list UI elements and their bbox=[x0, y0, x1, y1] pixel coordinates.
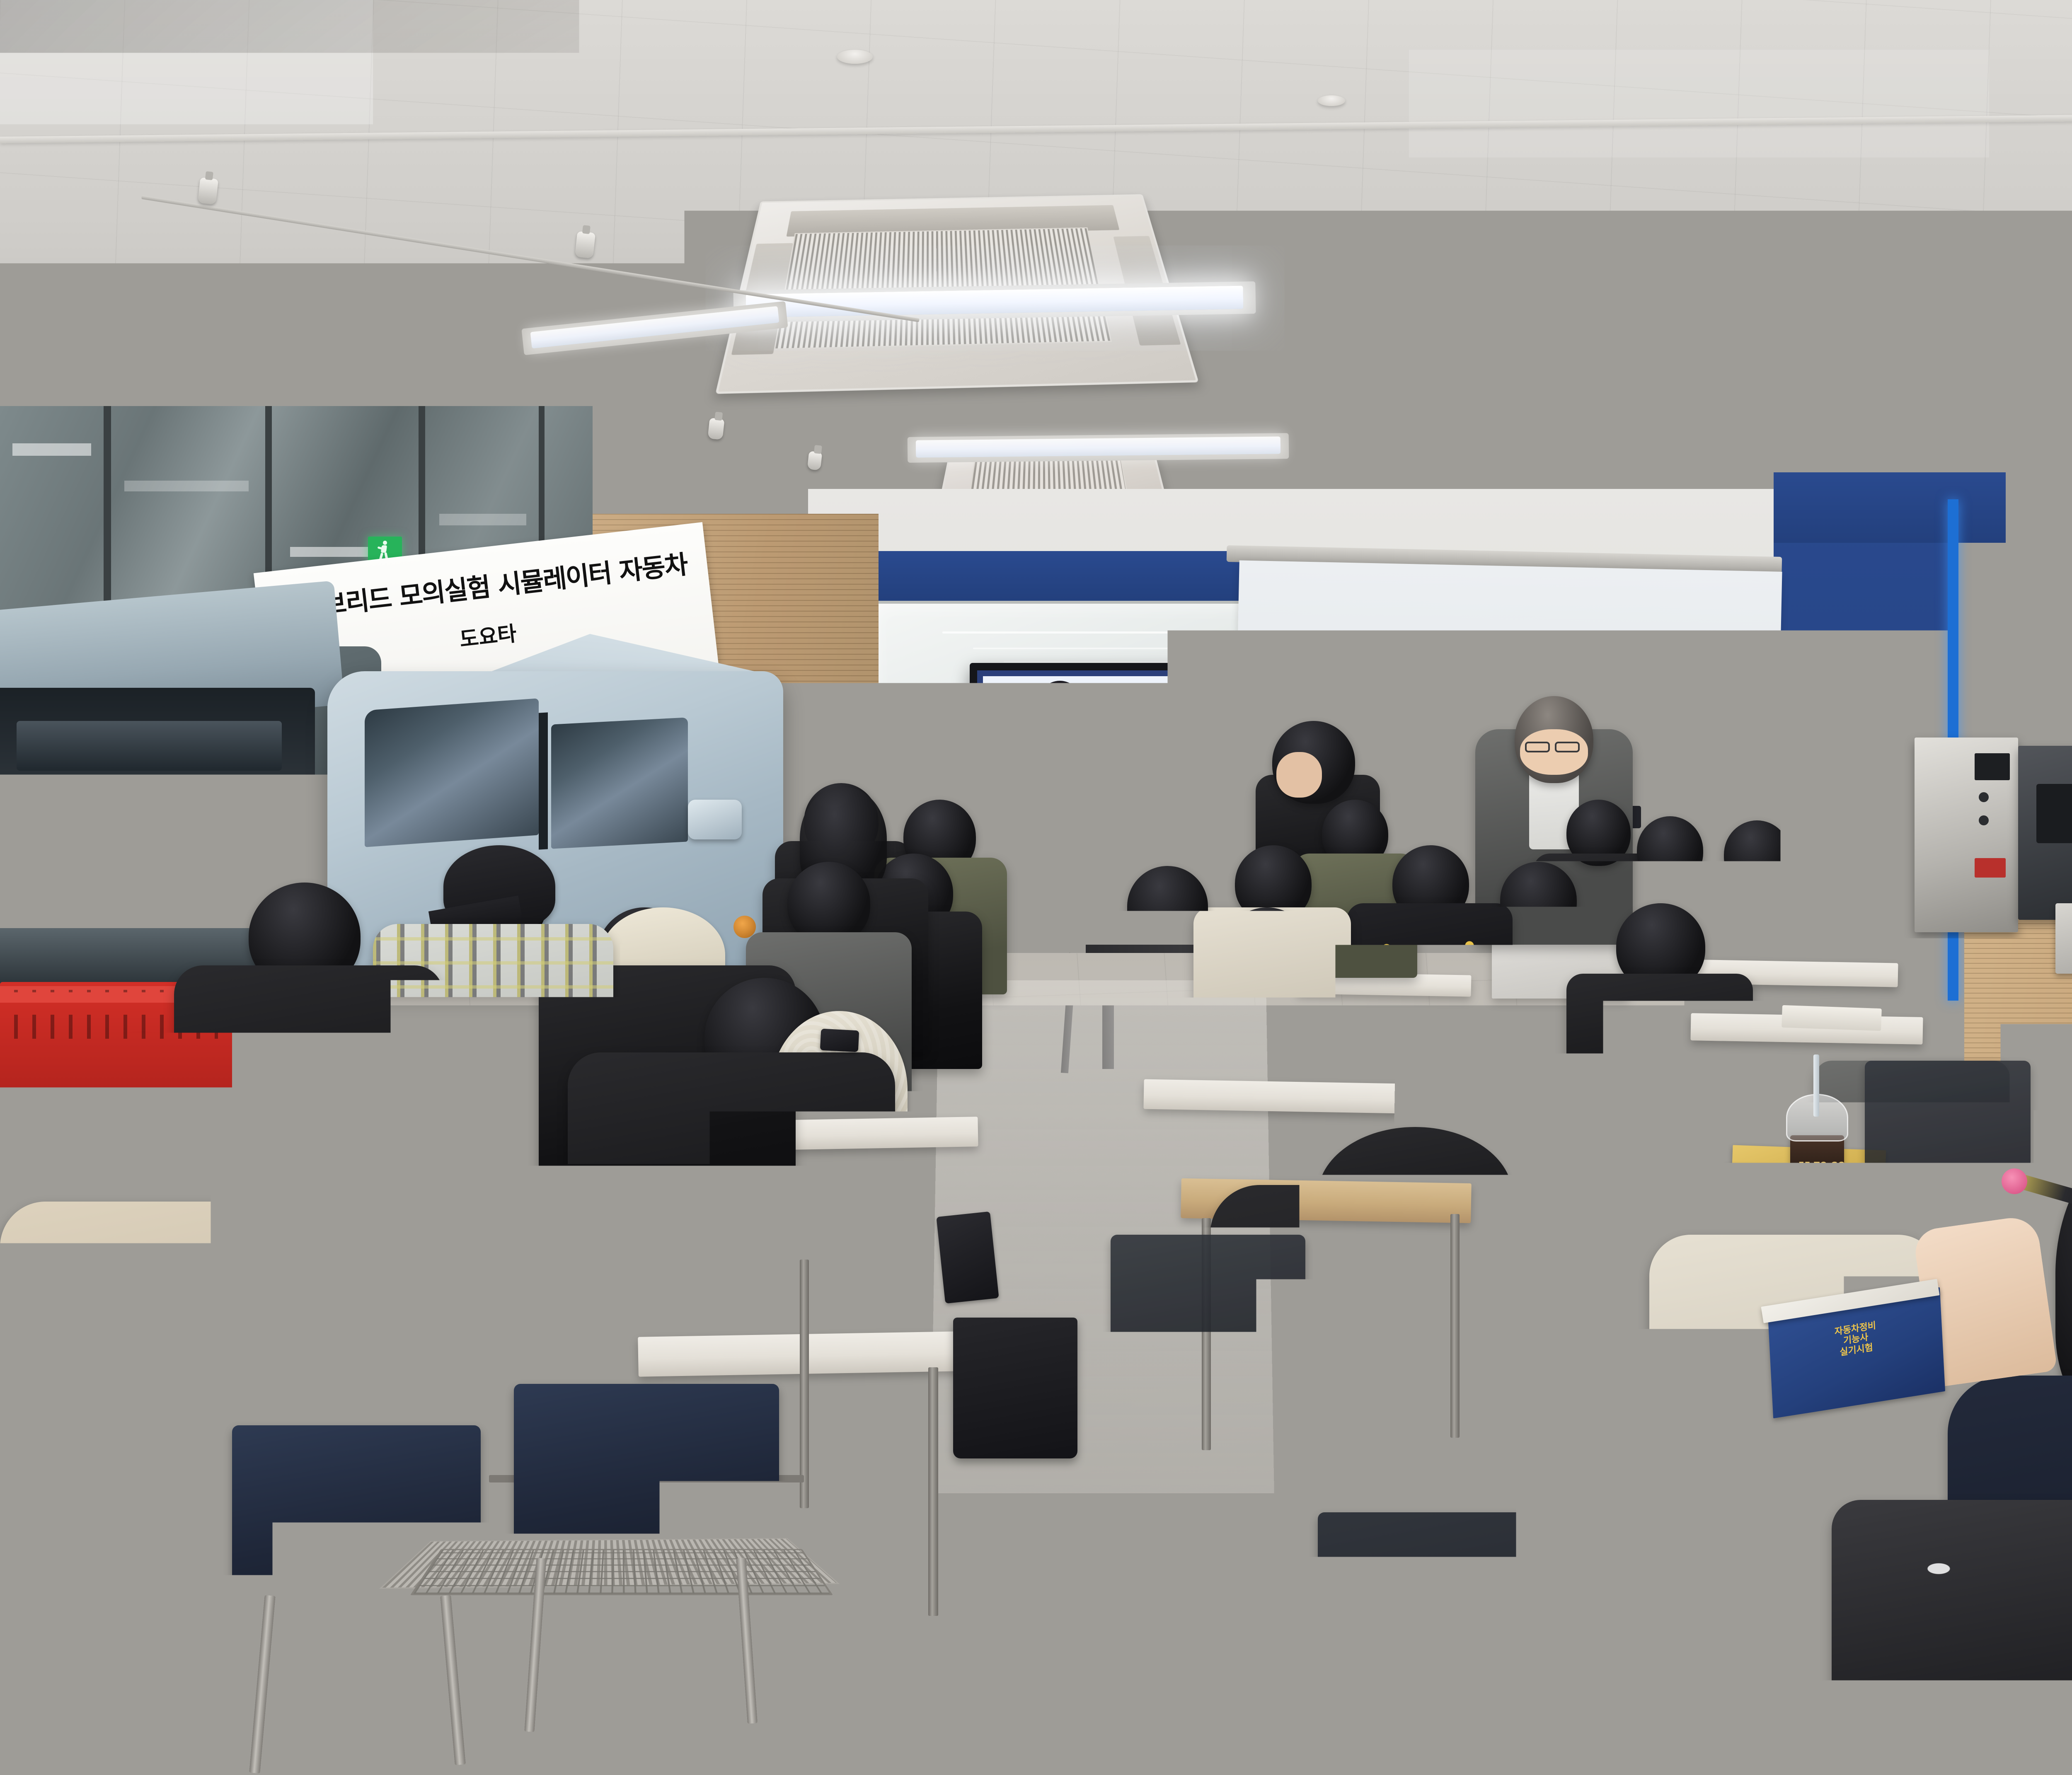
desk-leg bbox=[928, 1367, 938, 1616]
attendee-body bbox=[1566, 974, 1753, 1173]
classroom-chair[interactable] bbox=[1111, 1235, 1305, 1367]
smartphone[interactable] bbox=[820, 1029, 859, 1052]
table-cell-highlighted: 2026.04.04· 2026.04.09 bbox=[1098, 813, 1158, 864]
side-mirror bbox=[688, 800, 742, 839]
attendee-hand bbox=[87, 1637, 195, 1699]
classroom-chair[interactable] bbox=[232, 1425, 481, 1599]
rig-button[interactable] bbox=[1979, 815, 1989, 825]
notebook[interactable] bbox=[1782, 1005, 1882, 1031]
blue-wall-band bbox=[854, 551, 1260, 601]
glass-reflection bbox=[12, 443, 91, 456]
track-spotlight bbox=[575, 231, 595, 259]
side-marker-light bbox=[733, 916, 756, 938]
pink-bear-charm bbox=[2002, 1168, 2027, 1194]
trunk-cavity bbox=[0, 688, 315, 866]
slide-person-illustration bbox=[1019, 681, 1097, 757]
track-spotlight bbox=[198, 177, 218, 205]
whiteboard-glare bbox=[973, 648, 1173, 649]
row-label-highlighted: 2026년도제2회 bbox=[995, 813, 1038, 864]
blue-wall-header bbox=[1774, 472, 2006, 543]
slide-title-underline bbox=[1105, 714, 1400, 716]
backpack bbox=[953, 1318, 1077, 1458]
classroom-chair[interactable] bbox=[1318, 1512, 1691, 1744]
table-cell: 2026.06.08· 2026.06.15 bbox=[1039, 885, 1099, 900]
slide-illustration bbox=[995, 684, 1101, 760]
track-spotlight bbox=[707, 418, 724, 440]
attendee-inner-top bbox=[137, 1334, 232, 1599]
chair-leg bbox=[1649, 1732, 1662, 1775]
rig-display bbox=[1975, 753, 2010, 781]
paisley-blanket bbox=[1832, 1500, 2072, 1775]
classroom-photo-scene: 연간 기능사 회별 검정시행일정 필기시험원서접수(휴일제외) 필기시험 필기시… bbox=[0, 0, 2072, 1775]
illustration-tie bbox=[1054, 719, 1061, 736]
classroom-chair[interactable] bbox=[1500, 1235, 1716, 1371]
coffee-cup-label: EE TO GO bbox=[1798, 1160, 1845, 1170]
whiteboard-glare bbox=[1004, 661, 1172, 663]
classroom-chair[interactable] bbox=[514, 1384, 779, 1562]
classroom-chair[interactable] bbox=[1086, 1115, 1222, 1210]
textbook-title: 자동차정비기능사실기시험 bbox=[1769, 1310, 1943, 1369]
smoke-detector-icon bbox=[1318, 95, 1345, 106]
illustration-base bbox=[1026, 754, 1087, 759]
ceiling-tile-shade bbox=[1409, 50, 1989, 157]
ceiling-tile-shade bbox=[0, 0, 373, 124]
glass-reflection bbox=[124, 481, 249, 491]
table-cell: 2026.06.24· 2026.08.27 bbox=[1039, 900, 1099, 929]
car-b-pillar bbox=[539, 712, 548, 849]
whiteboard-glare bbox=[942, 631, 1180, 634]
attendee-face bbox=[1276, 752, 1322, 798]
glass-reflection bbox=[439, 514, 526, 525]
smoke-detector-icon bbox=[837, 50, 873, 64]
car-front-window bbox=[551, 717, 688, 849]
table-cell: 2026.04.23 bbox=[1158, 813, 1218, 864]
table-cell-highlighted: 2026.04.08· 2026.03.30,빈자리접수2026.03.29· … bbox=[1039, 813, 1099, 864]
slide-title: 연간 기능사 회별 검정시행일정 bbox=[1109, 687, 1396, 712]
smartphone[interactable] bbox=[936, 1212, 999, 1303]
car-rear-window bbox=[365, 698, 539, 847]
attendee-body bbox=[568, 1052, 895, 1392]
rig-button[interactable] bbox=[1979, 792, 1989, 802]
trunk-interior-panel bbox=[17, 721, 282, 771]
table-cell: 2026.01.30· 2026.01.20,빈자리접수2026.01.14· … bbox=[1039, 761, 1099, 812]
eyeglasses-icon bbox=[1555, 742, 1580, 752]
rig-aperture bbox=[2036, 784, 2072, 843]
table-cell: 2026.01.30 bbox=[1158, 761, 1218, 812]
drinking-straw bbox=[1813, 1054, 1819, 1117]
banner-brand: 도요타 bbox=[458, 617, 518, 653]
column-header: 최종합격자발표일 bbox=[995, 760, 1018, 774]
table-cell: 2026.01.30· 2026.01.24 bbox=[1098, 761, 1158, 812]
chair-leg bbox=[1359, 1732, 1372, 1775]
illustration-hand bbox=[1094, 696, 1104, 705]
classroom-chair[interactable] bbox=[1865, 1061, 2031, 1168]
eyeglasses-icon bbox=[1525, 742, 1550, 752]
